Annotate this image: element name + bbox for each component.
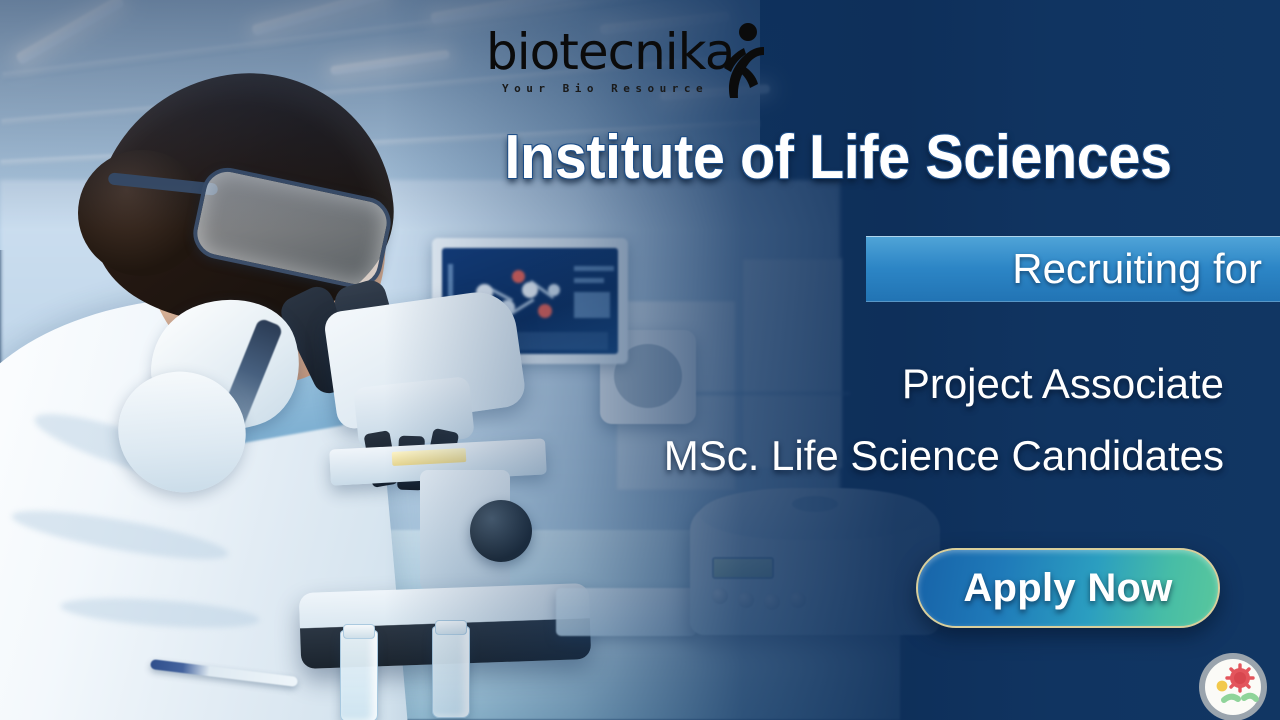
bacteria-shape	[1244, 696, 1256, 699]
biotecnika-logo[interactable]: biotecnika Your Bio Resource	[486, 24, 786, 110]
running-person-icon	[700, 20, 778, 102]
apply-now-button[interactable]: Apply Now	[916, 548, 1220, 628]
virus-shape	[1227, 665, 1253, 691]
recruiting-label: Recruiting for	[866, 236, 1262, 302]
page-title: Institute of Life Sciences	[464, 126, 1212, 190]
logo-tagline: Your Bio Resource	[502, 82, 708, 95]
recruitment-banner: biotecnika Your Bio Resource Institute o…	[0, 0, 1280, 720]
recruiting-band: Recruiting for	[866, 236, 1280, 302]
petri-dish-microbe-icon	[1198, 652, 1268, 720]
role-line-1: Project Associate	[902, 360, 1224, 408]
bacteria-shape	[1224, 697, 1238, 700]
yellow-cell-shape	[1217, 681, 1228, 692]
role-line-2: MSc. Life Science Candidates	[664, 432, 1224, 480]
apply-now-label: Apply Now	[963, 566, 1172, 611]
